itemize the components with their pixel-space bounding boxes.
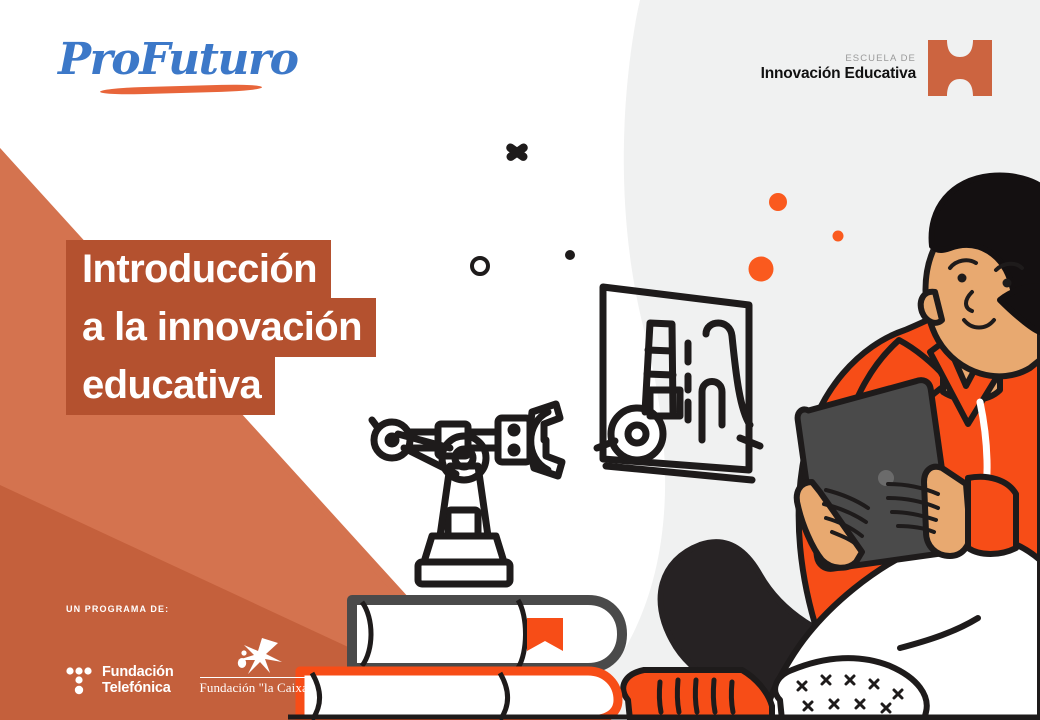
title-line-1: Introducción [66,240,331,299]
title-line-2: a la innovación [66,298,376,357]
escuela-name: Innovación Educativa [761,65,916,82]
canvas-wheel-inner [628,425,646,443]
telefonica-wordmark: Fundación Telefónica [102,665,174,696]
cover-slide: ProFuturo ESCUELA DE Innovación Educativ… [0,0,1040,720]
profuturo-wordmark: ProFuturo [58,38,288,82]
profuturo-logo[interactable]: ProFuturo [58,38,288,100]
canvas-curve [702,382,722,441]
la-caixa-star-icon [200,636,310,676]
title-line-3: educativa [66,356,275,415]
escuela-innovacion-lockup[interactable]: ESCUELA DE Innovación Educativa [761,40,992,96]
canvas-wheel-outer [611,408,663,460]
canvas-ground-right [740,438,760,446]
fundacion-la-caixa-logo[interactable]: Fundación "la Caixa" [200,636,310,696]
sponsors-block: UN PROGRAMA DE: Fundación Telefónica [66,604,336,696]
profuturo-underline-swoosh [100,84,262,96]
telefonica-line-1: Fundación [102,665,174,681]
la-caixa-wordmark: Fundación "la Caixa" [200,680,310,696]
canvas-tower-rung-1 [648,350,672,351]
escuela-text-group: ESCUELA DE Innovación Educativa [761,54,916,82]
sponsor-logos-row: Fundación Telefónica Fundación "la Caixa… [66,636,336,696]
sponsors-kicker: UN PROGRAMA DE: [66,604,336,614]
la-caixa-rule [200,677,308,678]
escuela-kicker: ESCUELA DE [761,54,916,64]
escuela-x-mark-icon [928,40,992,96]
telefonica-line-2: Telefónica [102,681,174,697]
fundacion-telefonica-logo[interactable]: Fundación Telefónica [66,665,174,696]
canvas-tower-rung-2 [647,374,673,375]
telefonica-dots-icon [66,666,94,696]
page-title: Introducción a la innovación educativa [66,240,376,415]
canvas-peak [706,323,750,425]
